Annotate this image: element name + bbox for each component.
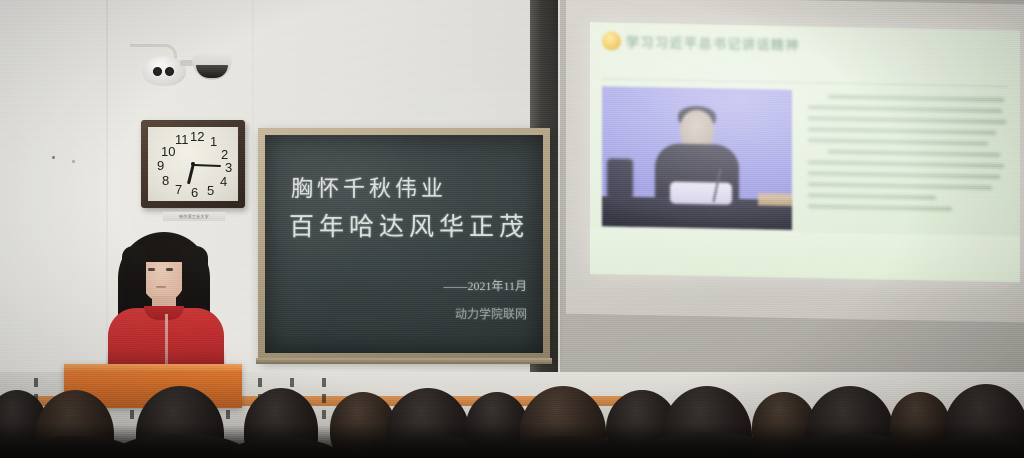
clock-hour-hand xyxy=(187,165,195,184)
slide-text-block xyxy=(804,90,1010,236)
wall-mark xyxy=(52,156,55,159)
camera-lens xyxy=(153,67,162,76)
camera-lens xyxy=(196,65,228,78)
wall-seam xyxy=(252,0,254,400)
wall-plaque: 哈尔滨工业大学 xyxy=(163,212,225,221)
clock-number-10: 10 xyxy=(161,145,175,158)
clock-face: 12 1 2 3 4 5 6 7 8 9 10 11 xyxy=(148,127,238,201)
seated-audience xyxy=(0,352,1024,458)
slide-footer-band xyxy=(590,228,1020,282)
clock-number-11: 11 xyxy=(175,133,189,146)
chalk-text-line-2: 百年哈达风华正茂 xyxy=(289,207,529,243)
presenter-eye xyxy=(148,268,155,271)
clock-number-1: 1 xyxy=(210,135,217,148)
party-emblem-logo-icon xyxy=(602,31,621,50)
clock-minute-hand xyxy=(193,164,221,167)
clock-number-7: 7 xyxy=(175,183,182,196)
photo-papers xyxy=(670,182,732,205)
projection-screen: 学习习近平总书记讲话精神 xyxy=(566,0,1024,322)
clock-number-3: 3 xyxy=(225,161,232,174)
bullet-camera-icon xyxy=(192,54,232,80)
clock-number-4: 4 xyxy=(220,175,227,188)
wall-clock: 12 1 2 3 4 5 6 7 8 9 10 11 xyxy=(141,120,245,208)
wall-mark xyxy=(72,160,75,163)
presenter-mouth xyxy=(156,286,166,288)
slide-photo xyxy=(602,86,792,230)
presenter-eye xyxy=(166,268,173,271)
clock-center-pin xyxy=(191,162,195,166)
clock-number-9: 9 xyxy=(157,159,164,172)
photo-chair xyxy=(607,158,633,198)
blackboard-surface: 胸怀千秋伟业 百年哈达风华正茂 ——2021年11月 动力学院联网 xyxy=(265,135,543,353)
clock-number-5: 5 xyxy=(207,184,214,197)
security-camera-group xyxy=(122,38,234,100)
chalk-signature-name: 动力学院联网 xyxy=(455,305,527,322)
slide-header: 学习习近平总书记讲话精神 xyxy=(590,22,1020,86)
camera-lens xyxy=(165,67,174,76)
foreground-shadow xyxy=(0,424,1024,458)
slide-title: 学习习近平总书记讲话精神 xyxy=(626,32,800,54)
blackboard: 胸怀千秋伟业 百年哈达风华正茂 ——2021年11月 动力学院联网 xyxy=(258,128,550,360)
presentation-slide: 学习习近平总书记讲话精神 xyxy=(590,22,1020,282)
clock-number-12: 12 xyxy=(190,130,204,143)
classroom-lecture-photo: 12 1 2 3 4 5 6 7 8 9 10 11 哈尔滨工业大学 胸怀千秋伟… xyxy=(0,0,1024,458)
photo-caption-tag xyxy=(758,193,792,206)
chalk-signature-date: ——2021年11月 xyxy=(443,277,527,294)
clock-number-6: 6 xyxy=(191,186,198,199)
chalk-text-line-1: 胸怀千秋伟业 xyxy=(291,171,447,203)
clock-number-8: 8 xyxy=(162,174,169,187)
